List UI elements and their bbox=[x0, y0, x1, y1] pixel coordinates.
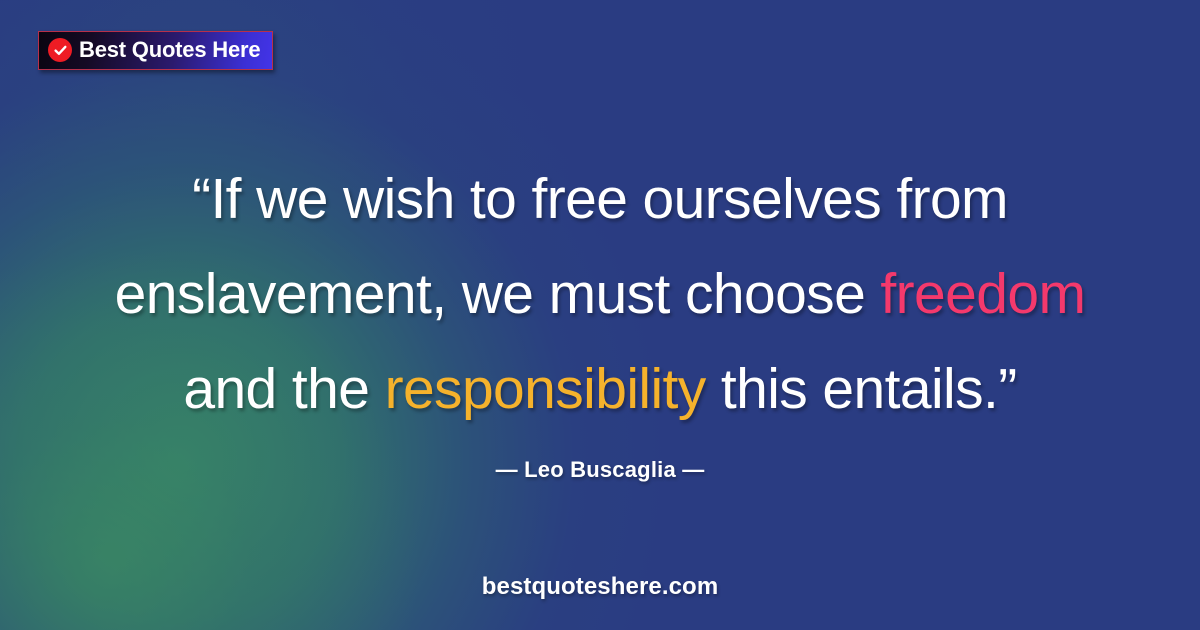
quote-line-2: enslavement, we must choose freedom bbox=[70, 247, 1130, 342]
quote-highlight-responsibility: responsibility bbox=[385, 357, 706, 421]
quote-text: “If we wish to free ourselves from ensla… bbox=[0, 152, 1200, 437]
footer-website-url[interactable]: bestquoteshere.com bbox=[0, 573, 1200, 601]
quote-line-2-text: enslavement, we must choose bbox=[115, 262, 881, 326]
quote-attribution: — Leo Buscaglia — bbox=[0, 457, 1200, 483]
quote-card: Best Quotes Here “If we wish to free our… bbox=[0, 0, 1200, 630]
quote-line-1: “If we wish to free ourselves from bbox=[70, 152, 1130, 247]
quote-line-3-text-b: this entails.” bbox=[706, 357, 1017, 421]
check-circle-icon bbox=[48, 38, 72, 62]
watermark-badge[interactable]: Best Quotes Here bbox=[38, 31, 273, 70]
quote-line-3: and the responsibility this entails.” bbox=[70, 342, 1130, 437]
quote-highlight-freedom: freedom bbox=[880, 262, 1085, 326]
watermark-badge-label: Best Quotes Here bbox=[79, 39, 260, 61]
quote-line-1-text: “If we wish to free ourselves from bbox=[192, 167, 1008, 231]
quote-line-3-text-a: and the bbox=[183, 357, 384, 421]
